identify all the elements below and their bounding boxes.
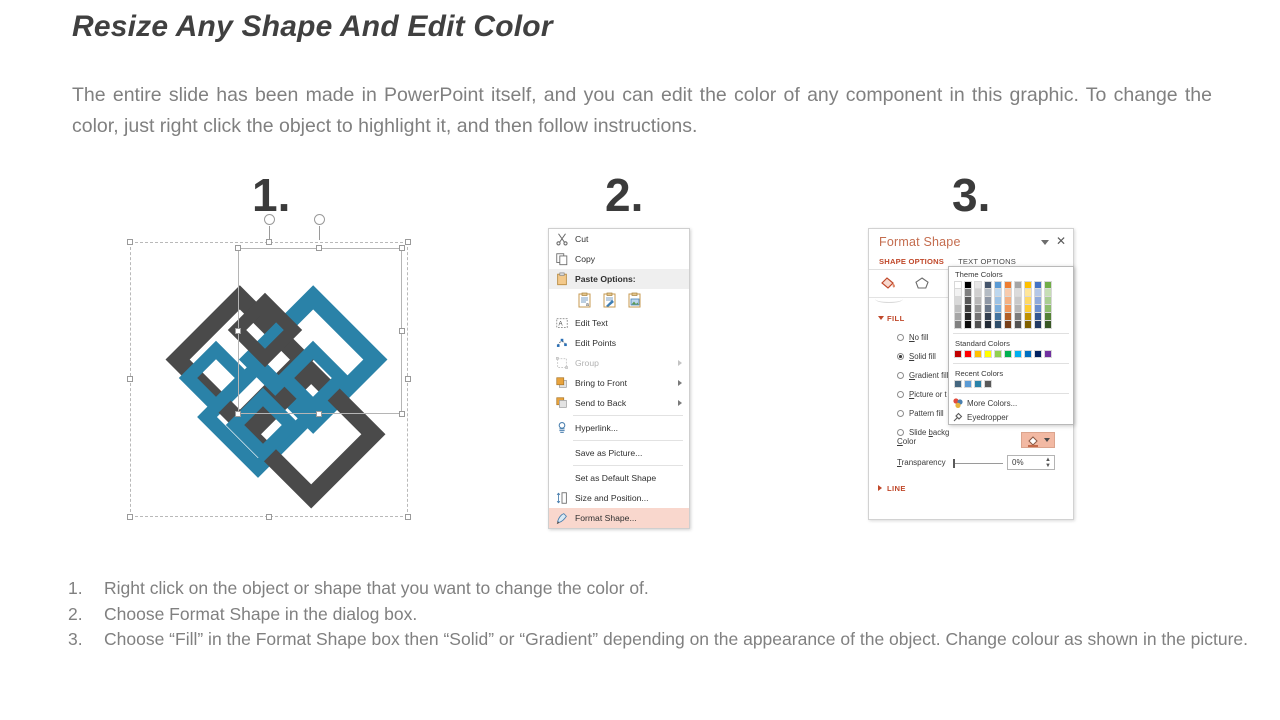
intro-paragraph: The entire slide has been made in PowerP… bbox=[72, 80, 1212, 142]
theme-colors-heading: Theme Colors bbox=[949, 267, 1073, 281]
svg-text:a: a bbox=[586, 302, 589, 308]
chevron-right-icon bbox=[678, 380, 682, 386]
color-swatch[interactable] bbox=[954, 313, 962, 321]
fill-option-no-fill[interactable]: No fill bbox=[897, 333, 929, 342]
color-swatch[interactable] bbox=[994, 289, 1002, 297]
panel-dropdown-icon[interactable] bbox=[1041, 240, 1049, 245]
color-swatch[interactable] bbox=[964, 289, 972, 297]
fill-bucket-icon[interactable] bbox=[879, 275, 897, 291]
color-swatch[interactable] bbox=[954, 297, 962, 305]
more-colors-icon bbox=[952, 397, 964, 409]
instruction-number: 1. bbox=[68, 576, 104, 602]
context-menu-label: Save as Picture... bbox=[575, 448, 642, 458]
hyperlink-icon bbox=[555, 421, 569, 435]
color-swatch[interactable] bbox=[994, 305, 1002, 313]
resize-handle-se[interactable] bbox=[405, 514, 411, 520]
color-swatch[interactable] bbox=[1024, 281, 1032, 289]
radio-gradient-fill[interactable] bbox=[897, 372, 904, 379]
instruction-text: Right click on the object or shape that … bbox=[104, 576, 1268, 602]
color-swatch[interactable] bbox=[1024, 321, 1032, 329]
color-picker-flyout[interactable]: Theme Colors Standard Colors Recent Colo… bbox=[948, 266, 1074, 425]
context-menu-item-cut[interactable]: Cut bbox=[549, 229, 689, 249]
instruction-number: 3. bbox=[68, 627, 104, 653]
standard-color-swatch[interactable] bbox=[1014, 350, 1022, 358]
color-swatch[interactable] bbox=[974, 305, 982, 313]
color-picker-separator bbox=[953, 393, 1069, 394]
inner-handle-se[interactable] bbox=[399, 411, 405, 417]
fill-option-label: Solid fill bbox=[909, 352, 936, 361]
shape-illustration-panel bbox=[125, 230, 415, 525]
color-swatch[interactable] bbox=[1044, 281, 1052, 289]
color-swatch[interactable] bbox=[984, 321, 992, 329]
context-menu-item-size-and-position[interactable]: Size and Position... bbox=[549, 488, 689, 508]
color-swatch[interactable] bbox=[964, 313, 972, 321]
color-swatch[interactable] bbox=[954, 321, 962, 329]
close-icon[interactable]: ✕ bbox=[1056, 235, 1066, 247]
context-menu-label: Edit Points bbox=[575, 338, 616, 348]
eyedropper-icon bbox=[952, 411, 964, 423]
fill-option-slide-background[interactable]: Slide backg bbox=[897, 428, 949, 437]
inner-handle-ne[interactable] bbox=[399, 245, 405, 251]
color-swatch[interactable] bbox=[984, 305, 992, 313]
color-swatch[interactable] bbox=[1034, 297, 1042, 305]
theme-color-column[interactable] bbox=[994, 281, 1002, 329]
standard-color-swatch[interactable] bbox=[1044, 350, 1052, 358]
instruction-item: 2. Choose Format Shape in the dialog box… bbox=[68, 602, 1268, 628]
color-swatch[interactable] bbox=[1004, 313, 1012, 321]
step-number-2: 2. bbox=[605, 168, 643, 222]
color-dropdown-arrow-icon[interactable] bbox=[1044, 438, 1050, 442]
color-swatch[interactable] bbox=[1034, 321, 1042, 329]
fill-color-button[interactable] bbox=[1021, 432, 1055, 448]
standard-color-swatch[interactable] bbox=[1034, 350, 1042, 358]
tab-text-options[interactable]: TEXT OPTIONS bbox=[958, 257, 1016, 266]
eyedropper-option[interactable]: Eyedropper bbox=[949, 410, 1073, 424]
context-menu-item-group[interactable]: Group bbox=[549, 353, 689, 373]
inner-handle-n[interactable] bbox=[316, 245, 322, 251]
fill-option-gradient-fill[interactable]: Gradient fill bbox=[897, 371, 948, 380]
color-swatch[interactable] bbox=[994, 297, 1002, 305]
transparency-value-field[interactable]: 0% ▲▼ bbox=[1007, 455, 1055, 470]
standard-color-swatch[interactable] bbox=[994, 350, 1002, 358]
standard-color-swatch[interactable] bbox=[1024, 350, 1032, 358]
color-swatch[interactable] bbox=[1044, 289, 1052, 297]
chevron-right-icon bbox=[678, 400, 682, 406]
fill-option-solid-fill[interactable]: Solid fill bbox=[897, 352, 936, 361]
context-menu-item-save-as-picture[interactable]: Save as Picture... bbox=[549, 443, 689, 463]
paste-picture-icon[interactable] bbox=[627, 292, 643, 308]
context-menu-item-bring-to-front[interactable]: Bring to Front bbox=[549, 373, 689, 393]
inner-handle-nw[interactable] bbox=[235, 245, 241, 251]
context-menu-label: Size and Position... bbox=[575, 493, 649, 503]
color-picker-separator bbox=[953, 333, 1069, 334]
instruction-item: 3. Choose “Fill” in the Format Shape box… bbox=[68, 627, 1268, 653]
radio-slide-background[interactable] bbox=[897, 429, 904, 436]
context-menu-label: Group bbox=[575, 358, 599, 368]
context-menu-item-set-default-shape[interactable]: Set as Default Shape bbox=[549, 468, 689, 488]
paste-options-row[interactable]: a bbox=[549, 289, 689, 313]
theme-color-column[interactable] bbox=[1014, 281, 1022, 329]
standard-color-swatch[interactable] bbox=[984, 350, 992, 358]
theme-color-column[interactable] bbox=[964, 281, 972, 329]
instruction-number: 2. bbox=[68, 602, 104, 628]
fill-color-swatch-icon bbox=[1026, 434, 1042, 447]
rotate-stem-outer bbox=[269, 226, 270, 240]
context-menu-item-copy[interactable]: Copy bbox=[549, 249, 689, 269]
color-swatch[interactable] bbox=[974, 297, 982, 305]
send-back-icon bbox=[555, 396, 569, 410]
context-menu-item-edit-points[interactable]: Edit Points bbox=[549, 333, 689, 353]
copy-icon bbox=[555, 252, 569, 266]
color-swatch[interactable] bbox=[1024, 289, 1032, 297]
inner-handle-e[interactable] bbox=[399, 328, 405, 334]
theme-color-column[interactable] bbox=[1004, 281, 1012, 329]
context-menu-item-edit-text[interactable]: A Edit Text bbox=[549, 313, 689, 333]
selection-inner-frame bbox=[238, 248, 402, 414]
color-swatch[interactable] bbox=[1004, 321, 1012, 329]
transparency-value: 0% bbox=[1012, 458, 1024, 467]
radio-solid-fill[interactable] bbox=[897, 353, 904, 360]
color-swatch[interactable] bbox=[984, 297, 992, 305]
more-colors-option[interactable]: More Colors... bbox=[949, 396, 1073, 410]
fill-option-label: Pattern fill bbox=[909, 409, 944, 418]
recent-colors-row[interactable] bbox=[949, 380, 1073, 391]
radio-pattern-fill[interactable] bbox=[897, 410, 904, 417]
color-swatch[interactable] bbox=[984, 289, 992, 297]
color-picker-separator bbox=[953, 363, 1069, 364]
spinner-arrows-icon[interactable]: ▲▼ bbox=[1045, 457, 1051, 469]
color-swatch[interactable] bbox=[964, 321, 972, 329]
context-menu-label: Bring to Front bbox=[575, 378, 627, 388]
transparency-slider[interactable] bbox=[955, 463, 1003, 464]
paste-keep-formatting-icon[interactable] bbox=[602, 292, 618, 308]
more-colors-label: More Colors... bbox=[967, 399, 1017, 408]
theme-colors-grid[interactable] bbox=[949, 281, 1073, 331]
clipboard-icon bbox=[555, 272, 569, 286]
color-swatch[interactable] bbox=[974, 289, 982, 297]
context-menu-label: Send to Back bbox=[575, 398, 626, 408]
color-swatch[interactable] bbox=[1004, 281, 1012, 289]
page-title: Resize Any Shape And Edit Color bbox=[72, 10, 553, 44]
size-position-icon bbox=[555, 491, 569, 505]
color-swatch[interactable] bbox=[964, 305, 972, 313]
effects-pentagon-icon[interactable] bbox=[913, 275, 931, 291]
color-swatch[interactable] bbox=[1044, 313, 1052, 321]
instructions-list: 1. Right click on the object or shape th… bbox=[68, 576, 1268, 653]
fill-option-label: Slide backg bbox=[909, 428, 949, 437]
context-menu-item-hyperlink[interactable]: Hyperlink... bbox=[549, 418, 689, 438]
color-swatch[interactable] bbox=[1034, 289, 1042, 297]
format-shape-tabs[interactable]: SHAPE OPTIONS TEXT OPTIONS bbox=[879, 257, 1016, 266]
radio-picture-fill[interactable] bbox=[897, 391, 904, 398]
color-swatch[interactable] bbox=[994, 281, 1002, 289]
color-swatch[interactable] bbox=[1004, 305, 1012, 313]
context-menu-separator bbox=[573, 440, 683, 441]
context-menu-label: Format Shape... bbox=[575, 513, 637, 523]
standard-color-swatch[interactable] bbox=[954, 350, 962, 358]
fill-expand-icon[interactable] bbox=[878, 316, 884, 320]
color-swatch[interactable] bbox=[974, 281, 982, 289]
color-swatch[interactable] bbox=[1004, 289, 1012, 297]
context-menu-label: Paste Options: bbox=[575, 274, 636, 284]
instruction-item: 1. Right click on the object or shape th… bbox=[68, 576, 1268, 602]
theme-color-column[interactable] bbox=[1024, 281, 1032, 329]
context-menu-item-paste-options[interactable]: Paste Options: bbox=[549, 269, 689, 289]
color-swatch[interactable] bbox=[974, 313, 982, 321]
color-swatch[interactable] bbox=[1034, 313, 1042, 321]
edit-points-icon bbox=[555, 336, 569, 350]
rotate-handle-outer[interactable] bbox=[264, 214, 275, 225]
standard-colors-heading: Standard Colors bbox=[949, 336, 1073, 350]
resize-handle-e[interactable] bbox=[405, 376, 411, 382]
scissors-icon bbox=[555, 232, 569, 246]
standard-colors-row[interactable] bbox=[949, 350, 1073, 361]
color-label: Color bbox=[897, 437, 916, 446]
color-swatch[interactable] bbox=[1014, 313, 1022, 321]
color-swatch[interactable] bbox=[994, 313, 1002, 321]
theme-color-column[interactable] bbox=[1044, 281, 1052, 329]
theme-color-column[interactable] bbox=[984, 281, 992, 329]
context-menu-label: Set as Default Shape bbox=[575, 473, 656, 483]
color-swatch[interactable] bbox=[1044, 305, 1052, 313]
context-menu-separator bbox=[573, 415, 683, 416]
context-menu-label: Edit Text bbox=[575, 318, 608, 328]
color-swatch[interactable] bbox=[1034, 281, 1042, 289]
paste-keep-text-icon[interactable]: a bbox=[577, 292, 593, 308]
recent-color-swatch[interactable] bbox=[984, 380, 992, 388]
recent-color-swatch[interactable] bbox=[974, 380, 982, 388]
color-swatch[interactable] bbox=[1024, 313, 1032, 321]
chevron-right-icon bbox=[678, 360, 682, 366]
fill-option-label: Gradient fill bbox=[909, 371, 948, 380]
fill-option-picture-fill[interactable]: Picture or t bbox=[897, 390, 947, 399]
color-swatch[interactable] bbox=[964, 281, 972, 289]
color-swatch[interactable] bbox=[1044, 297, 1052, 305]
color-swatch[interactable] bbox=[984, 281, 992, 289]
color-swatch[interactable] bbox=[1034, 305, 1042, 313]
resize-handle-s[interactable] bbox=[266, 514, 272, 520]
color-swatch[interactable] bbox=[1014, 289, 1022, 297]
format-shape-icon bbox=[555, 511, 569, 525]
inner-handle-sw[interactable] bbox=[235, 411, 241, 417]
format-shape-title: Format Shape bbox=[879, 235, 961, 249]
rotate-stem-inner bbox=[319, 226, 320, 240]
fill-option-label: No fill bbox=[909, 333, 929, 342]
fill-option-pattern-fill[interactable]: Pattern fill bbox=[897, 409, 944, 418]
color-swatch[interactable] bbox=[1024, 297, 1032, 305]
tab-shape-options[interactable]: SHAPE OPTIONS bbox=[879, 257, 944, 266]
context-menu-item-format-shape[interactable]: Format Shape... bbox=[549, 508, 689, 528]
theme-color-column[interactable] bbox=[974, 281, 982, 329]
recent-color-swatch[interactable] bbox=[954, 380, 962, 388]
rotate-handle-inner[interactable] bbox=[314, 214, 325, 225]
step-number-3: 3. bbox=[952, 168, 990, 222]
theme-color-column[interactable] bbox=[954, 281, 962, 329]
fill-option-label: Picture or t bbox=[909, 390, 947, 399]
line-section-heading: LINE bbox=[887, 484, 906, 493]
color-swatch[interactable] bbox=[1014, 281, 1022, 289]
slide-canvas: Resize Any Shape And Edit Color The enti… bbox=[0, 0, 1280, 720]
group-icon bbox=[555, 356, 569, 370]
context-menu[interactable]: Cut Copy Paste Options: a bbox=[548, 228, 690, 529]
context-menu-label: Cut bbox=[575, 234, 588, 244]
standard-color-swatch[interactable] bbox=[964, 350, 972, 358]
color-swatch[interactable] bbox=[1024, 305, 1032, 313]
transparency-label: Transparency bbox=[897, 458, 946, 467]
color-swatch[interactable] bbox=[954, 289, 962, 297]
inner-handle-w[interactable] bbox=[235, 328, 241, 334]
color-swatch[interactable] bbox=[1004, 297, 1012, 305]
standard-color-swatch[interactable] bbox=[974, 350, 982, 358]
recent-color-swatch[interactable] bbox=[964, 380, 972, 388]
context-menu-item-send-to-back[interactable]: Send to Back bbox=[549, 393, 689, 413]
resize-handle-ne[interactable] bbox=[405, 239, 411, 245]
line-expand-icon[interactable] bbox=[878, 485, 882, 491]
color-swatch[interactable] bbox=[1014, 297, 1022, 305]
resize-handle-nw[interactable] bbox=[127, 239, 133, 245]
radio-no-fill[interactable] bbox=[897, 334, 904, 341]
color-swatch[interactable] bbox=[1014, 305, 1022, 313]
context-menu-separator bbox=[573, 465, 683, 466]
color-swatch[interactable] bbox=[974, 321, 982, 329]
standard-color-swatch[interactable] bbox=[1004, 350, 1012, 358]
inner-handle-s[interactable] bbox=[316, 411, 322, 417]
resize-handle-sw[interactable] bbox=[127, 514, 133, 520]
color-swatch[interactable] bbox=[1014, 321, 1022, 329]
theme-color-column[interactable] bbox=[1034, 281, 1042, 329]
instruction-text: Choose “Fill” in the Format Shape box th… bbox=[104, 627, 1268, 653]
recent-colors-heading: Recent Colors bbox=[949, 366, 1073, 380]
resize-handle-w[interactable] bbox=[127, 376, 133, 382]
color-swatch[interactable] bbox=[964, 297, 972, 305]
eyedropper-label: Eyedropper bbox=[967, 413, 1008, 422]
color-swatch[interactable] bbox=[954, 281, 962, 289]
color-swatch[interactable] bbox=[994, 321, 1002, 329]
instruction-text: Choose Format Shape in the dialog box. bbox=[104, 602, 1268, 628]
color-swatch[interactable] bbox=[984, 313, 992, 321]
color-swatch[interactable] bbox=[1044, 321, 1052, 329]
edit-text-icon: A bbox=[555, 316, 569, 330]
fill-section-heading: FILL bbox=[887, 314, 905, 323]
color-swatch[interactable] bbox=[954, 305, 962, 313]
context-menu-label: Copy bbox=[575, 254, 595, 264]
context-menu-label: Hyperlink... bbox=[575, 423, 618, 433]
bring-front-icon bbox=[555, 376, 569, 390]
